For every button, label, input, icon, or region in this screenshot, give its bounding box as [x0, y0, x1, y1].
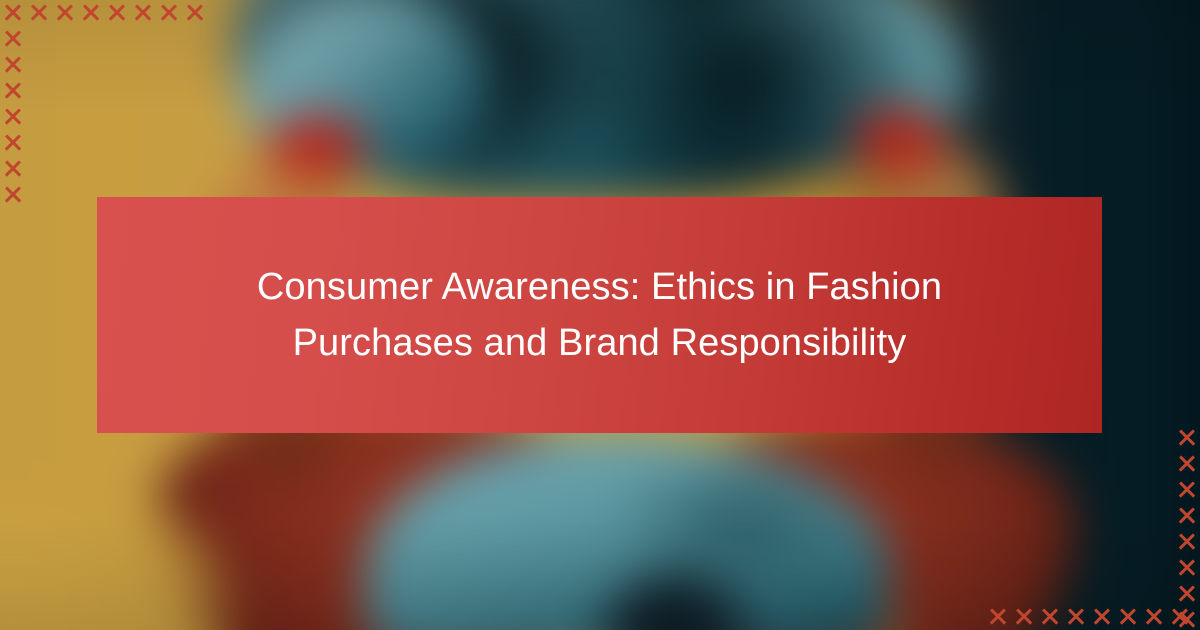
photo-right-dark-band	[1121, 0, 1200, 630]
photo-red-accent-left	[267, 111, 371, 182]
page-title: Consumer Awareness: Ethics in Fashion Pu…	[210, 259, 990, 371]
social-card: Consumer Awareness: Ethics in Fashion Pu…	[0, 0, 1200, 630]
title-banner: Consumer Awareness: Ethics in Fashion Pu…	[97, 197, 1102, 433]
